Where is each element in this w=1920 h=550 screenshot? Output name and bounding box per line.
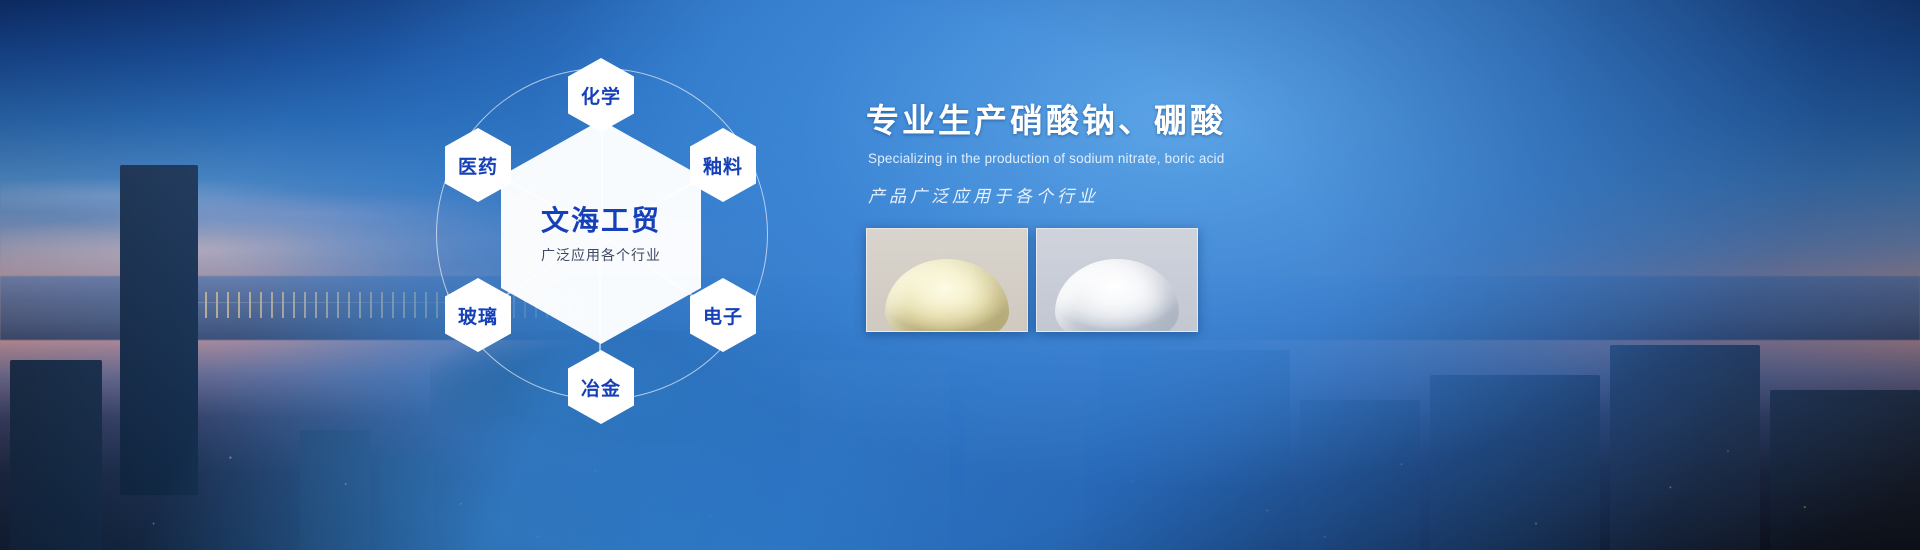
product-photo-boric-acid[interactable] (1036, 228, 1198, 332)
product-photo-group (866, 228, 1198, 332)
hexagon-label: 医药 (458, 152, 498, 179)
company-tagline: 广泛应用各个行业 (541, 245, 661, 265)
headline-block: 专业生产硝酸钠、硼酸 Specializing in the productio… (866, 100, 1506, 207)
banner-subheadline: Specializing in the production of sodium… (868, 151, 1506, 166)
banner-tagline: 产品广泛应用于各个行业 (868, 182, 1506, 207)
hexagon-label: 玻璃 (458, 302, 498, 329)
hexagon-label: 电子 (703, 302, 743, 329)
promo-banner: 文海工贸 广泛应用各个行业 化学 釉料 医药 玻璃 电子 冶金 专业生产硝酸钠、… (0, 0, 1920, 550)
company-name: 文海工贸 (541, 199, 661, 239)
applications-diagram: 文海工贸 广泛应用各个行业 化学 釉料 医药 玻璃 电子 冶金 (400, 20, 820, 500)
banner-headline: 专业生产硝酸钠、硼酸 (866, 100, 1506, 141)
hexagon-label: 釉料 (703, 152, 743, 179)
powder-grain-texture (867, 229, 1027, 331)
hexagon-label: 化学 (581, 82, 621, 109)
powder-grain-texture (1037, 229, 1197, 331)
hexagon-label: 冶金 (581, 374, 621, 401)
product-photo-sodium-nitrate[interactable] (866, 228, 1028, 332)
